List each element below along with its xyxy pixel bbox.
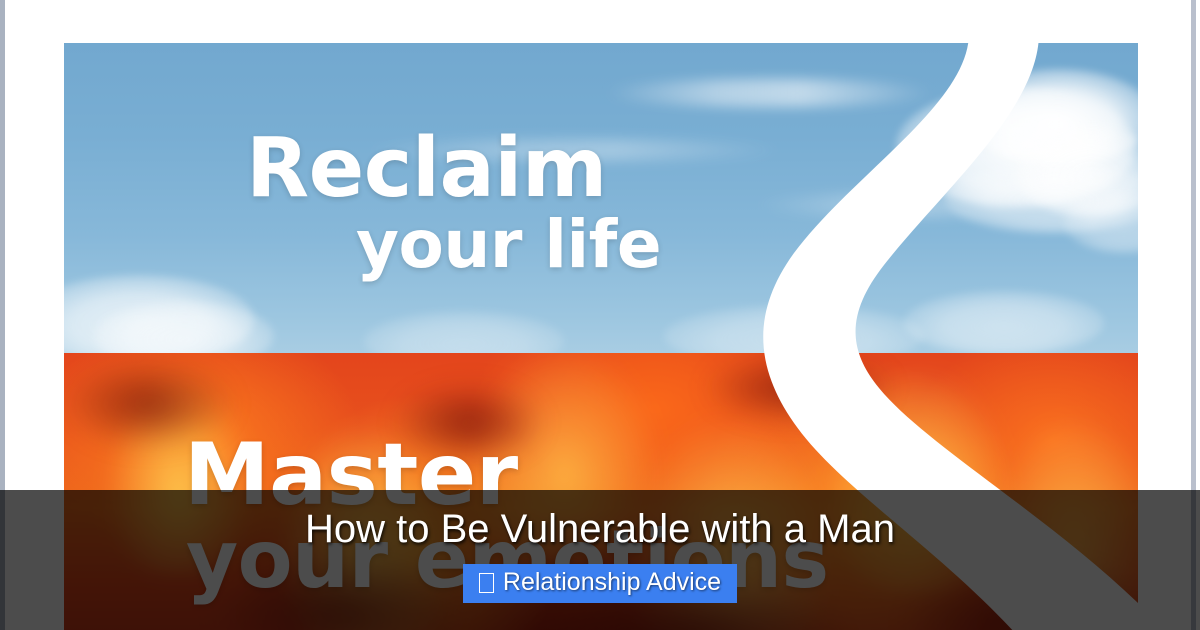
cloud-shape [364,311,564,353]
cloud-shape [904,291,1104,353]
badge-row: Relationship Advice [0,564,1200,603]
caption-overlay: How to Be Vulnerable with a Man Relation… [0,490,1200,630]
category-badge[interactable]: Relationship Advice [463,564,737,603]
cloud-wisp [604,79,934,107]
cloud-shape [664,305,924,353]
ember-dark-shape [704,353,894,423]
category-badge-label: Relationship Advice [503,568,721,596]
missing-glyph-box-icon [479,573,494,593]
page-root: Reclaim your life Master your emotions H… [0,0,1200,630]
image-headline-reclaim: Reclaim [246,121,607,216]
page-title: How to Be Vulnerable with a Man [0,507,1200,552]
image-headline-your-life: your life [356,206,661,283]
